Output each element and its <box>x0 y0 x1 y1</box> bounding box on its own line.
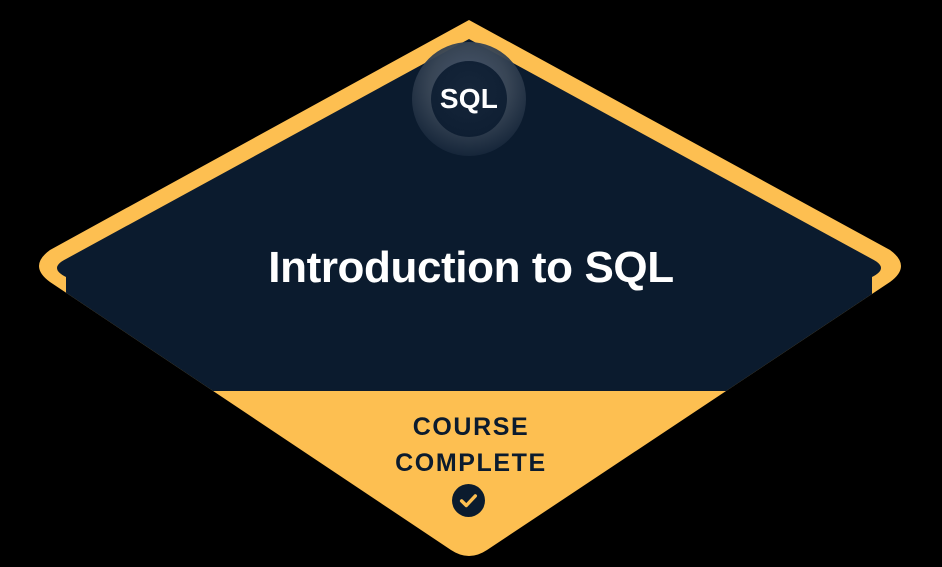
status-line-1: COURSE <box>0 409 942 445</box>
course-completion-badge: SQL Introduction to SQL COURSE COMPLETE <box>0 0 942 567</box>
course-title: Introduction to SQL <box>0 243 942 292</box>
check-circle-icon <box>452 484 485 517</box>
subject-chip: SQL <box>412 42 526 156</box>
status-line-2: COMPLETE <box>0 445 942 481</box>
subject-label: SQL <box>440 85 498 113</box>
completion-status: COURSE COMPLETE <box>0 409 942 481</box>
